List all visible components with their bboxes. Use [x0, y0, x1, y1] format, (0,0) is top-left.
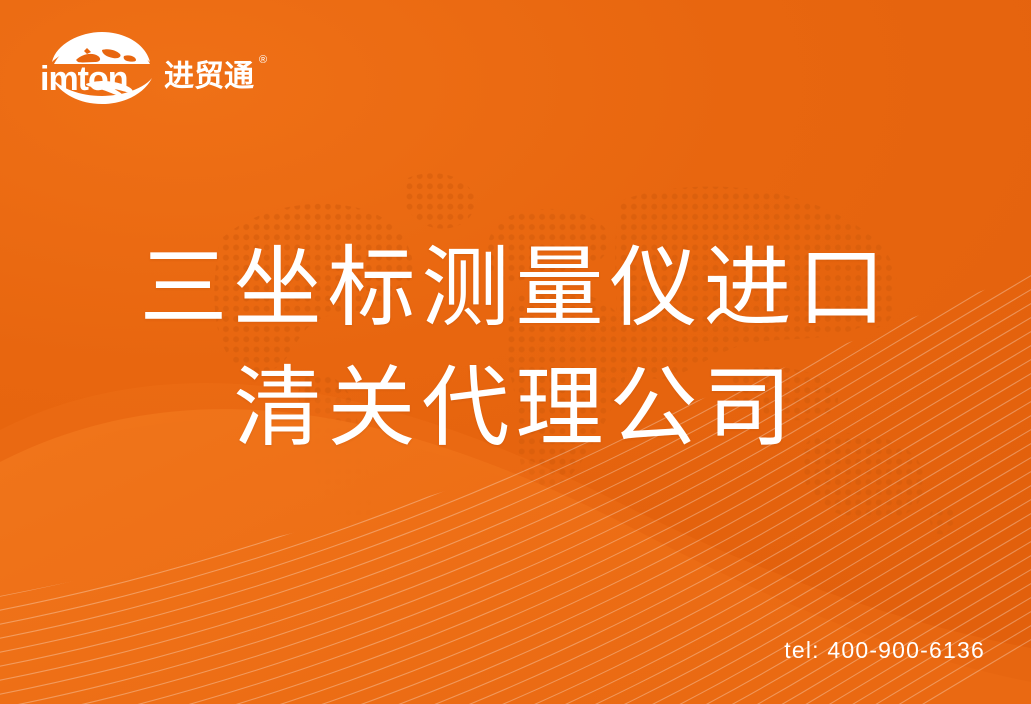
- imton-globe-icon: imton: [40, 28, 160, 108]
- company-logo[interactable]: imton 进贸通 ®: [40, 28, 250, 108]
- phone-number[interactable]: tel: 400-900-6136: [784, 639, 985, 662]
- svg-text:imton: imton: [40, 60, 128, 98]
- promo-banner: imton 进贸通 ® 三坐标测量仪进口 清关代理公司 tel: 400-900…: [0, 0, 1031, 704]
- registered-trademark-icon: ®: [259, 55, 267, 66]
- headline-line-2: 清关代理公司: [0, 348, 1031, 468]
- headline-line-1: 三坐标测量仪进口: [0, 228, 1031, 348]
- logo-chinese-name: 进贸通: [164, 62, 254, 92]
- headline: 三坐标测量仪进口 清关代理公司: [0, 228, 1031, 468]
